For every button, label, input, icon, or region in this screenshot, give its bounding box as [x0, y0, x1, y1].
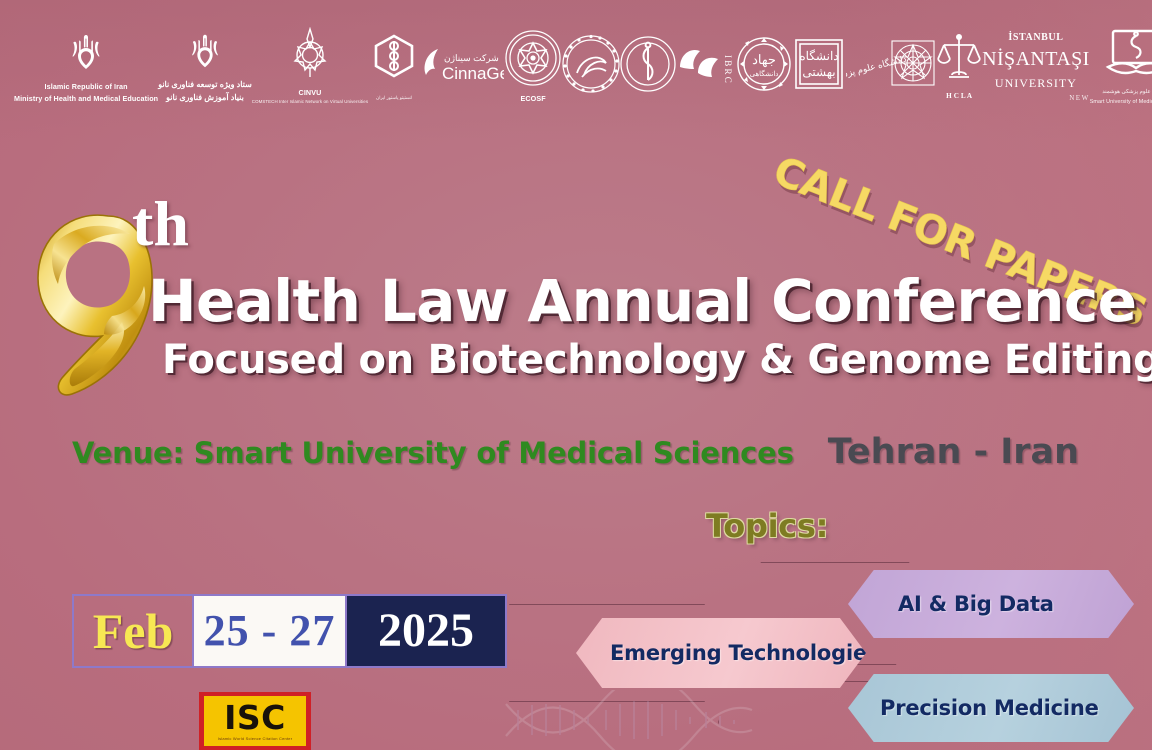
smart-university-book-icon	[1104, 26, 1152, 87]
logo-caption-line1: CINVU	[299, 88, 322, 98]
topic-chevron-emerging-technologies[interactable]: Emerging Technologies	[576, 618, 866, 688]
logo-jahad-daneshgahi: جهاد دانشگاهی	[736, 34, 792, 99]
medical-sciences-seal-icon	[620, 34, 676, 99]
logo-caption-line1: ECOSF	[521, 94, 546, 104]
svg-text:CinnaGen: CinnaGen	[442, 64, 504, 83]
topic-label: Emerging Technologies	[610, 641, 879, 665]
ibrc-leaf-icon: I B R C	[676, 39, 736, 94]
logo-caption-line1: İSTANBUL	[1008, 31, 1063, 45]
venue-row: Venue: Smart University of Medical Scien…	[72, 432, 1079, 472]
cinnagen-icon: شرکت سیناژن CinnaGen	[420, 41, 504, 92]
logo-ministry-of-health: Islamic Republic of Iran Ministry of Hea…	[14, 29, 158, 103]
logo-nano-technology: ستاد ویژه توسعه فناوری نانو بنیاد آموزش …	[158, 29, 252, 104]
svg-text:دانشگاه: دانشگاه	[799, 49, 838, 63]
logo-rosette-institution: دانشگاه علوم پزشکی	[846, 35, 936, 98]
logo-hcla: H C L A	[936, 31, 982, 102]
date-days: 25 - 27	[192, 596, 347, 666]
cinvu-star-icon	[287, 27, 333, 86]
logo-caption-line2: Ministry of Health and Medical Education	[14, 94, 158, 104]
caduceus-hex-icon	[368, 32, 420, 93]
logo-cinnagen: شرکت سیناژن CinnaGen	[420, 41, 504, 92]
logo-caption-line1: دانشگاه علوم پزشکی هوشمند	[1102, 89, 1152, 96]
jahad-daneshgahi-seal-icon: جهاد دانشگاهی	[736, 34, 792, 99]
logo-caption-line3: UNIVERSITY	[995, 75, 1077, 91]
isc-badge: ISC Islamic World Science Citation Cente…	[199, 692, 311, 750]
date-month: Feb	[74, 596, 192, 666]
page-title: Health Law Annual Conference	[148, 272, 1108, 331]
iran-emblem-icon	[60, 29, 112, 80]
svg-text:دانشگاه علوم پزشکی: دانشگاه علوم پزشکی	[846, 52, 908, 83]
logo-iran-medical-sciences	[620, 34, 676, 99]
venue-label: Venue: Smart University of Medical Scien…	[72, 436, 794, 470]
topic-chevron-ai-big-data[interactable]: AI & Big Data	[848, 570, 1134, 638]
logo-smart-university-medical-sciences: دانشگاه علوم پزشکی هوشمند Smart Universi…	[1090, 26, 1152, 106]
logo-caption-line2: انستیتو پاستور ایران	[376, 95, 412, 101]
svg-text:I B R C: I B R C	[723, 55, 733, 83]
logo-caption-line1: Islamic Republic of Iran	[45, 82, 128, 92]
edition-ordinal: th	[132, 192, 189, 256]
dna-helix-icon	[498, 690, 758, 750]
tehran-university-seal-icon	[562, 33, 620, 100]
title-block: Health Law Annual Conference Focused on …	[148, 272, 1108, 381]
topic-label: Precision Medicine	[880, 696, 1099, 720]
logo-istanbul-nisantasi-university: İSTANBUL NİŞANTAŞI UNIVERSITY NEW	[982, 29, 1090, 103]
logo-caption-line2: Smart University of Medical Sciences	[1090, 99, 1152, 106]
logo-shahid-beheshti-university: دانشگاه بهشتی	[792, 36, 846, 97]
topic-label: AI & Big Data	[898, 592, 1054, 616]
isc-label: ISC	[224, 701, 286, 734]
shahid-beheshti-square-icon: دانشگاه بهشتی	[792, 36, 846, 97]
sponsor-logo-bar: Islamic Republic of Iran Ministry of Hea…	[0, 0, 1152, 128]
topics-heading: Topics:	[706, 507, 828, 545]
logo-caption-line1: ستاد ویژه توسعه فناوری نانو	[158, 80, 252, 91]
topic-chevron-precision-medicine[interactable]: Precision Medicine	[848, 674, 1134, 742]
ecosf-seal-icon	[504, 29, 562, 92]
logo-ecosf: ECOSF	[504, 29, 562, 104]
logo-caption-line1: H C L A	[946, 92, 972, 102]
logo-tehran-university	[562, 33, 620, 100]
logo-caption-line4: NEW	[1069, 94, 1089, 103]
logo-cinvu: CINVU COMSTECH Inter Islamic Network on …	[252, 27, 368, 106]
logo-pasteur-institute: انستیتو پاستور ایران	[368, 32, 420, 101]
svg-text:دانشگاهی: دانشگاهی	[750, 69, 779, 78]
logo-caption-line2: NİŞANTAŞI	[982, 46, 1090, 73]
page-subtitle: Focused on Biotechnology & Genome Editin…	[162, 339, 1108, 381]
logo-ibrc: I B R C	[676, 39, 736, 94]
svg-text:جهاد: جهاد	[752, 52, 776, 68]
isc-subtitle: Islamic World Science Citation Center	[218, 736, 292, 741]
iran-emblem-icon	[180, 29, 230, 78]
conference-date-box: Feb 25 - 27 2025	[72, 594, 507, 668]
city-label: Tehran - Iran	[828, 432, 1079, 472]
svg-text:شرکت سیناژن: شرکت سیناژن	[444, 53, 499, 64]
logo-caption-line2: COMSTECH Inter Islamic Network on Virtua…	[252, 99, 368, 105]
logo-caption-line2: بنیاد آموزش فناوری نانو	[166, 93, 244, 104]
svg-text:بهشتی: بهشتی	[803, 65, 836, 79]
date-year: 2025	[347, 596, 505, 666]
scales-of-justice-icon	[936, 31, 982, 90]
isc-badge-inner: ISC Islamic World Science Citation Cente…	[204, 696, 306, 746]
conference-poster: Islamic Republic of Iran Ministry of Hea…	[0, 0, 1152, 750]
rosette-pattern-icon: دانشگاه علوم پزشکی	[846, 35, 936, 98]
